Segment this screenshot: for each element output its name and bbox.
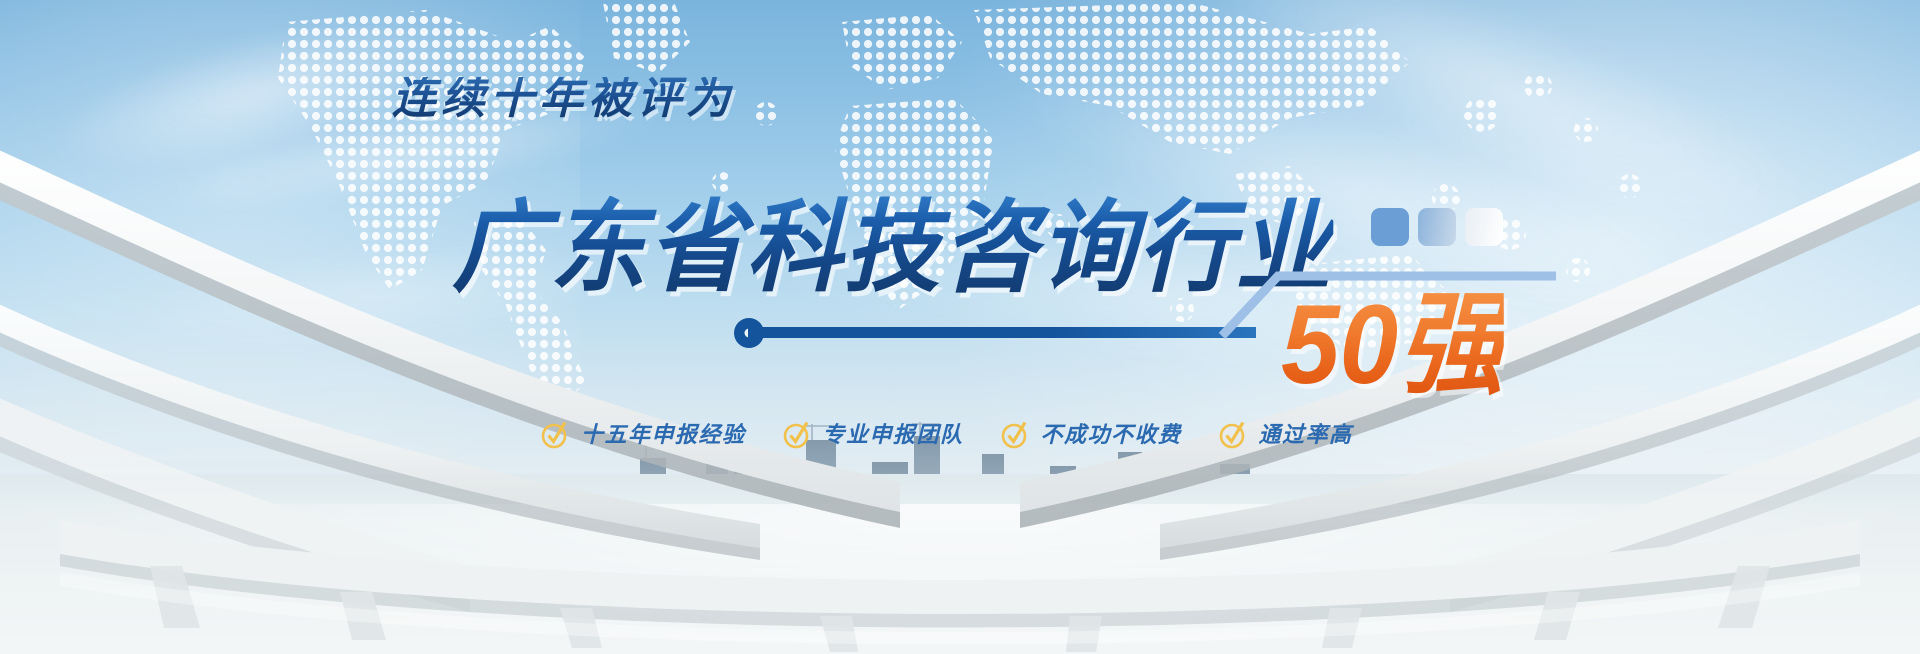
block-light [1465, 208, 1503, 246]
feature-badge-label: 不成功不收费 [1041, 424, 1182, 446]
promo-banner: 连续十年被评为 广东省科技咨询行业 50强 [0, 0, 1920, 654]
feature-badge-label: 通过率高 [1259, 424, 1353, 446]
feature-badge: 专业申报团队 [782, 420, 964, 450]
feature-badge-label: 专业申报团队 [823, 424, 964, 446]
feature-badge-list: 十五年申报经验 专业申报团队 不成功不收费 [540, 420, 1353, 450]
check-circle-icon [540, 420, 570, 450]
banner-content: 连续十年被评为 广东省科技咨询行业 50强 [0, 0, 1920, 654]
check-circle-icon [1218, 420, 1248, 450]
page-title: 广东省科技咨询行业 [452, 196, 1333, 300]
rank-badge-50-strong: 50强 [1281, 289, 1503, 401]
check-circle-icon [782, 420, 812, 450]
block-solid [1371, 208, 1409, 246]
feature-badge: 十五年申报经验 [540, 420, 746, 450]
feature-badge: 不成功不收费 [1000, 420, 1182, 450]
feature-badge-label: 十五年申报经验 [581, 424, 746, 446]
decor-blocks [1371, 208, 1503, 246]
headline-underline [748, 327, 1256, 338]
banner-eyebrow: 连续十年被评为 [392, 77, 735, 121]
check-circle-icon [1000, 420, 1030, 450]
feature-badge: 通过率高 [1218, 420, 1353, 450]
block-mid [1418, 208, 1456, 246]
